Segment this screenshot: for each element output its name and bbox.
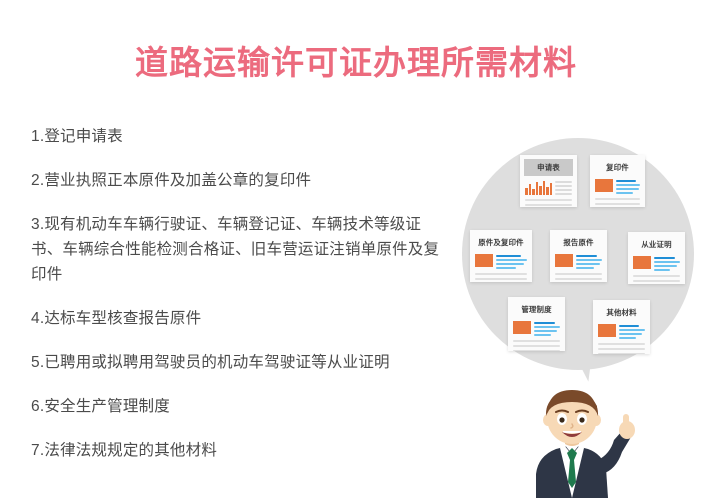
bar-chart-bars xyxy=(525,180,552,195)
document-card-copy: 复印件 xyxy=(590,155,645,207)
materials-list: 1.登记申请表 2.营业执照正本原件及加盖公章的复印件 3.现有机动车车辆行驶证… xyxy=(31,124,441,463)
footer-lines xyxy=(593,339,650,354)
text-lines xyxy=(616,179,640,194)
bar-chart-icon xyxy=(520,176,577,195)
footer-lines xyxy=(508,336,565,351)
document-card-label: 管理制度 xyxy=(508,297,565,317)
list-item: 2.营业执照正本原件及加盖公章的复印件 xyxy=(31,168,441,193)
footer-lines xyxy=(550,269,607,282)
text-lines xyxy=(619,324,645,339)
image-placeholder xyxy=(513,321,531,334)
document-card-employment-certificate: 从业证明 xyxy=(628,232,685,284)
image-placeholder xyxy=(633,256,651,269)
document-card-application-form: 申请表 xyxy=(520,155,577,207)
document-card-management-system: 管理制度 xyxy=(508,297,565,351)
document-card-label: 其他材料 xyxy=(593,300,650,320)
illustration: 申请表 复印件 xyxy=(440,130,712,498)
card-body xyxy=(590,175,645,194)
card-body xyxy=(508,317,565,336)
image-placeholder xyxy=(475,254,493,267)
text-lines xyxy=(534,321,560,336)
page-title: 道路运输许可证办理所需材料 xyxy=(0,36,712,84)
card-body xyxy=(593,320,650,339)
footer-lines xyxy=(520,195,577,207)
list-item: 1.登记申请表 xyxy=(31,124,441,149)
list-item: 7.法律法规规定的其他材料 xyxy=(31,438,441,463)
footer-lines xyxy=(590,194,645,207)
document-card-other-materials: 其他材料 xyxy=(593,300,650,354)
document-card-label: 复印件 xyxy=(590,155,645,175)
list-item: 6.安全生产管理制度 xyxy=(31,394,441,419)
document-card-label: 原件及复印件 xyxy=(470,230,532,250)
list-item: 3.现有机动车车辆行驶证、车辆登记证、车辆技术等级证书、车辆综合性能检测合格证、… xyxy=(31,212,441,287)
footer-lines xyxy=(470,269,532,282)
businessman-character-icon xyxy=(498,388,648,498)
footer-lines xyxy=(628,271,685,284)
card-body xyxy=(470,250,532,269)
card-body xyxy=(550,250,607,269)
document-card-label: 申请表 xyxy=(524,159,573,176)
document-card-label: 报告原件 xyxy=(550,230,607,250)
text-lines xyxy=(576,254,602,269)
image-placeholder xyxy=(595,179,613,192)
card-body xyxy=(628,252,685,271)
document-card-label: 从业证明 xyxy=(628,232,685,252)
document-card-original-and-copy: 原件及复印件 xyxy=(470,230,532,282)
document-card-report-original: 报告原件 xyxy=(550,230,607,282)
image-placeholder xyxy=(555,254,573,267)
list-item: 4.达标车型核查报告原件 xyxy=(31,306,441,331)
text-lines xyxy=(496,254,527,269)
list-item: 5.已聘用或拟聘用驾驶员的机动车驾驶证等从业证明 xyxy=(31,350,441,375)
image-placeholder xyxy=(598,324,616,337)
text-lines xyxy=(555,180,572,195)
text-lines xyxy=(654,256,680,271)
